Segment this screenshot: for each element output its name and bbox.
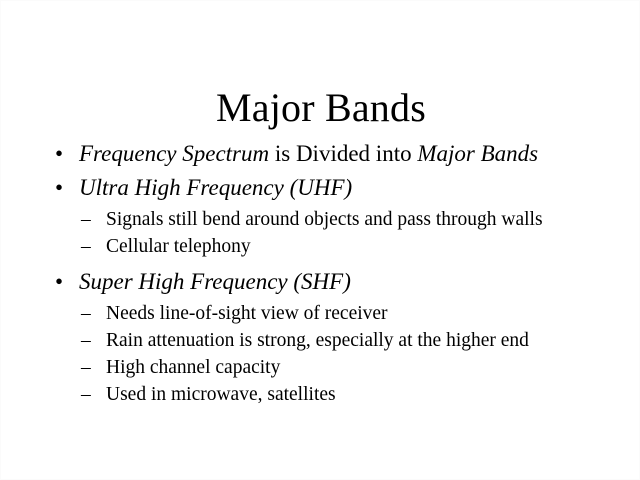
sub-bullet-text: High channel capacity [106, 357, 280, 378]
sub-bullet-text: Signals still bend around objects and pa… [106, 209, 543, 230]
bullet-dot-icon: • [55, 171, 63, 205]
slide-canvas: Major Bands •Frequency Spectrum is Divid… [0, 0, 640, 480]
plain-text: Used in microwave, satellites [106, 384, 336, 405]
bullet-item: •Super High Frequency (SHF) [1, 265, 640, 299]
sub-bullet-text: Rain attenuation is strong, especially a… [106, 330, 529, 351]
bullet-text: Frequency Spectrum is Divided into Major… [79, 141, 538, 166]
sub-bullet-dash-icon: – [81, 354, 91, 381]
plain-text: is Divided into [269, 141, 417, 166]
bullet-dot-icon: • [55, 265, 63, 299]
sub-bullet-item: –Used in microwave, satellites [1, 381, 640, 408]
sub-bullet-text: Used in microwave, satellites [106, 384, 336, 405]
emphasized-text: Super High Frequency (SHF) [79, 269, 351, 294]
bullet-text: Super High Frequency (SHF) [79, 269, 351, 294]
plain-text: Rain attenuation is strong, especially a… [106, 330, 529, 351]
emphasized-text: Frequency Spectrum [79, 141, 269, 166]
bullet-text: Ultra High Frequency (UHF) [79, 175, 352, 200]
emphasized-text: Major Bands [417, 141, 538, 166]
sub-bullet-item: –High channel capacity [1, 354, 640, 381]
sub-bullet-item: –Signals still bend around objects and p… [1, 206, 640, 233]
sub-bullet-dash-icon: – [81, 327, 91, 354]
sub-bullet-item: –Rain attenuation is strong, especially … [1, 327, 640, 354]
sub-bullet-text: Needs line-of-sight view of receiver [106, 303, 388, 324]
sub-bullet-dash-icon: – [81, 381, 91, 408]
sub-bullet-dash-icon: – [81, 300, 91, 327]
emphasized-text: Ultra High Frequency (UHF) [79, 175, 352, 200]
sub-bullet-dash-icon: – [81, 206, 91, 233]
sub-bullet-dash-icon: – [81, 233, 91, 260]
plain-text: Signals still bend around objects and pa… [106, 209, 543, 230]
sub-bullet-item: –Needs line-of-sight view of receiver [1, 300, 640, 327]
sub-bullet-item: –Cellular telephony [1, 233, 640, 260]
bullet-item: •Ultra High Frequency (UHF) [1, 171, 640, 205]
plain-text: Cellular telephony [106, 236, 251, 257]
page-title: Major Bands [1, 85, 640, 131]
sub-bullet-text: Cellular telephony [106, 236, 251, 257]
plain-text: High channel capacity [106, 357, 280, 378]
bullet-item: •Frequency Spectrum is Divided into Majo… [1, 137, 640, 171]
slide-body: •Frequency Spectrum is Divided into Majo… [1, 137, 640, 408]
bullet-dot-icon: • [55, 137, 63, 171]
plain-text: Needs line-of-sight view of receiver [106, 303, 388, 324]
